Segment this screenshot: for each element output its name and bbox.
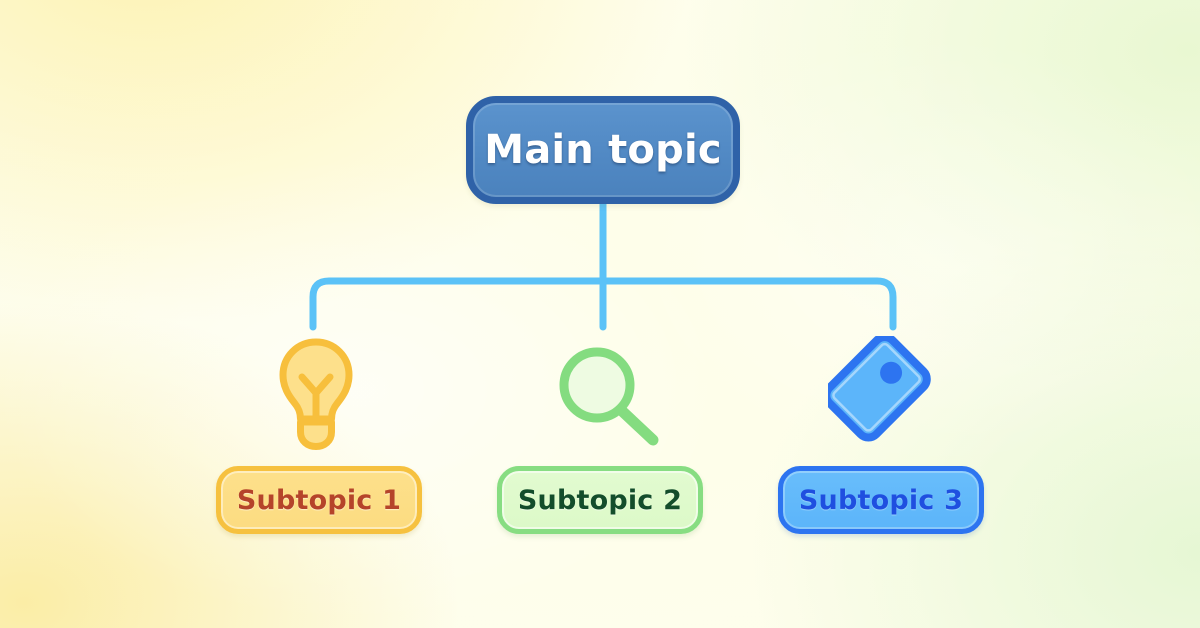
- mindmap-canvas: Main topic Subtopic 1 Subtopic 2 Subtopi…: [0, 0, 1200, 628]
- subtopic-3-label: Subtopic 3: [799, 485, 963, 516]
- main-topic-label: Main topic: [484, 127, 722, 173]
- subtopic-2-node[interactable]: Subtopic 2: [497, 466, 703, 534]
- connector-left-branch: [313, 281, 603, 327]
- connector-right-branch: [603, 281, 893, 327]
- subtopic-1-node[interactable]: Subtopic 1: [216, 466, 422, 534]
- subtopic-3-node[interactable]: Subtopic 3: [778, 466, 984, 534]
- price-tag-icon: [828, 336, 940, 452]
- magnifying-glass-icon: [554, 344, 662, 448]
- subtopic-1-label: Subtopic 1: [237, 485, 401, 516]
- subtopic-2-label: Subtopic 2: [518, 485, 682, 516]
- main-topic-node[interactable]: Main topic: [466, 96, 740, 204]
- lightbulb-icon: [275, 336, 357, 452]
